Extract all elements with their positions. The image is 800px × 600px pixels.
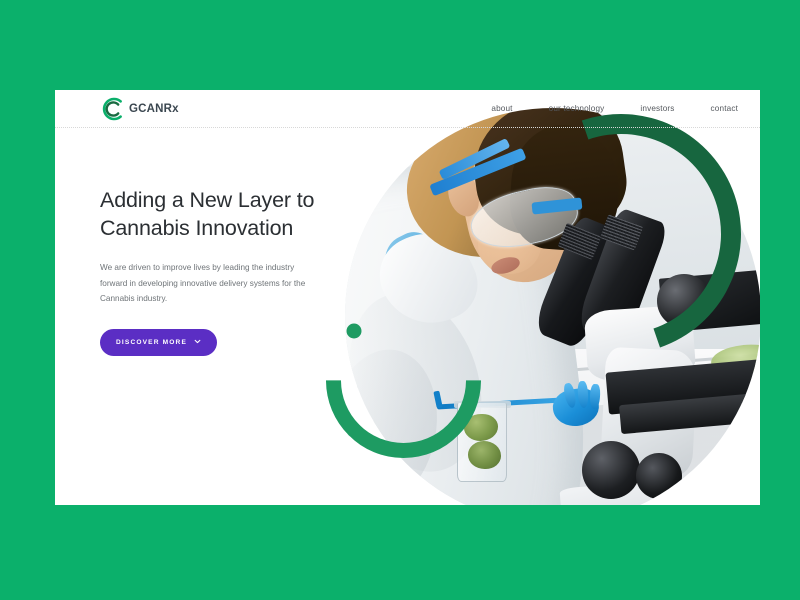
hero-content: Adding a New Layer to Cannabis Innovatio… bbox=[100, 186, 332, 356]
site-header: GCANRx about our technology investors co… bbox=[55, 90, 760, 127]
hero-description: We are driven to improve lives by leadin… bbox=[100, 260, 311, 307]
discover-more-button[interactable]: DISCOVER MORE bbox=[100, 329, 217, 356]
gcanrx-circle-logo-icon bbox=[100, 97, 124, 121]
discover-more-label: DISCOVER MORE bbox=[116, 339, 187, 346]
page-title: Adding a New Layer to Cannabis Innovatio… bbox=[100, 186, 332, 242]
header-divider bbox=[55, 127, 760, 128]
chevron-down-icon bbox=[194, 338, 201, 347]
lab-scene-illustration bbox=[345, 108, 760, 505]
site-logo[interactable]: GCANRx bbox=[100, 97, 179, 121]
nav-item-about[interactable]: about bbox=[491, 104, 512, 113]
nav-item-investors[interactable]: investors bbox=[640, 104, 674, 113]
microscope-focus-knob bbox=[636, 453, 682, 499]
microscope-focus-knob bbox=[582, 441, 640, 499]
nav-item-our-technology[interactable]: our technology bbox=[549, 104, 605, 113]
cannabis-bud bbox=[468, 441, 501, 469]
main-navigation: about our technology investors contact bbox=[491, 104, 738, 113]
hero-card: GCANRx about our technology investors co… bbox=[55, 90, 760, 505]
hero-photo bbox=[345, 108, 760, 505]
nav-item-contact[interactable]: contact bbox=[711, 104, 738, 113]
logo-wordmark: GCANRx bbox=[129, 103, 179, 115]
